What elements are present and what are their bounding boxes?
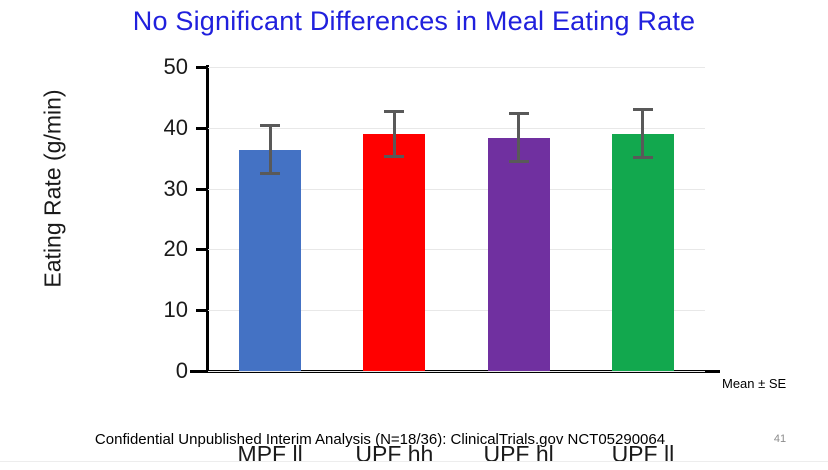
error-bar-cap-bottom xyxy=(633,156,653,159)
bar xyxy=(239,150,301,371)
slide-number: 41 xyxy=(760,433,800,445)
y-tick-mark xyxy=(196,127,208,130)
y-tick-label: 20 xyxy=(142,238,188,260)
gridline xyxy=(208,371,705,372)
error-bar-cap-top xyxy=(384,110,404,113)
bar xyxy=(612,134,674,371)
error-bar-line xyxy=(393,110,396,159)
y-tick-mark xyxy=(196,66,208,69)
error-bar-cap-bottom xyxy=(260,172,280,175)
footer-note: Confidential Unpublished Interim Analysi… xyxy=(0,431,760,448)
y-tick-mark xyxy=(196,188,208,191)
error-bar-cap-top xyxy=(509,112,529,115)
error-bar-cap-top xyxy=(633,108,653,111)
plot-area xyxy=(208,67,705,371)
error-bar-cap-top xyxy=(260,124,280,127)
y-tick-mark xyxy=(196,309,208,312)
y-tick-mark xyxy=(196,370,208,373)
error-bar xyxy=(384,110,404,159)
mean-se-annotation: Mean ± SE xyxy=(722,376,786,391)
bar xyxy=(363,134,425,371)
y-tick-label: 0 xyxy=(142,360,188,382)
error-bar-cap-bottom xyxy=(384,155,404,158)
bar-chart: Eating Rate (g/min) 01020304050 MPF llUP… xyxy=(0,55,828,385)
error-bar-line xyxy=(517,112,520,163)
y-tick-label: 40 xyxy=(142,117,188,139)
y-tick-label: 50 xyxy=(142,56,188,78)
error-bar xyxy=(260,124,280,175)
y-tick-label: 30 xyxy=(142,178,188,200)
error-bar-line xyxy=(269,124,272,175)
error-bar xyxy=(633,108,653,159)
gridline xyxy=(208,128,705,129)
bar xyxy=(488,138,550,371)
y-tick-label: 10 xyxy=(142,299,188,321)
error-bar-cap-bottom xyxy=(509,160,529,163)
y-tick-mark xyxy=(196,248,208,251)
error-bar-line xyxy=(641,108,644,159)
y-axis-title: Eating Rate (g/min) xyxy=(40,64,67,314)
error-bar xyxy=(509,112,529,163)
page-title: No Significant Differences in Meal Eatin… xyxy=(0,6,828,37)
gridline xyxy=(208,67,705,68)
footer-divider xyxy=(0,461,828,462)
